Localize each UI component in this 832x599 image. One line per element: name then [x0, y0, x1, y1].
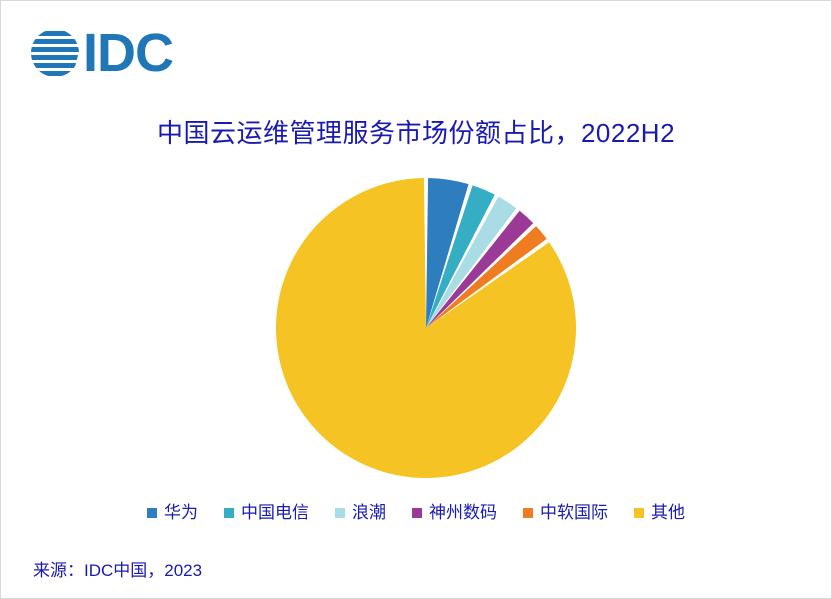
legend-label: 浪潮: [352, 504, 386, 521]
legend-swatch-icon: [412, 508, 422, 518]
legend-label: 中软国际: [540, 504, 608, 521]
legend-item[interactable]: 中软国际: [523, 504, 608, 521]
chart-legend: 华为中国电信浪潮神州数码中软国际其他: [1, 504, 831, 521]
idc-logo: IDC: [29, 25, 173, 81]
source-note: 来源：IDC中国，2023: [33, 556, 202, 581]
legend-item[interactable]: 中国电信: [224, 504, 309, 521]
legend-label: 中国电信: [241, 504, 309, 521]
pie-slice-group: [276, 178, 576, 478]
chart-title: 中国云运维管理服务市场份额占比，2022H2: [1, 113, 831, 150]
legend-label: 其他: [651, 504, 685, 521]
legend-swatch-icon: [224, 508, 234, 518]
legend-item[interactable]: 浪潮: [335, 504, 386, 521]
pie-chart: [271, 173, 581, 483]
idc-globe-icon: [29, 27, 81, 79]
chart-page: IDC 中国云运维管理服务市场份额占比，2022H2 华为中国电信浪潮神州数码中…: [0, 0, 832, 599]
pie-chart-svg: [271, 173, 581, 483]
legend-swatch-icon: [147, 508, 157, 518]
legend-item[interactable]: 华为: [147, 504, 198, 521]
legend-swatch-icon: [523, 508, 533, 518]
legend-label: 神州数码: [429, 504, 497, 521]
legend-swatch-icon: [634, 508, 644, 518]
legend-label: 华为: [164, 504, 198, 521]
legend-item[interactable]: 神州数码: [412, 504, 497, 521]
legend-item[interactable]: 其他: [634, 504, 685, 521]
legend-swatch-icon: [335, 508, 345, 518]
idc-logo-text: IDC: [83, 26, 173, 80]
